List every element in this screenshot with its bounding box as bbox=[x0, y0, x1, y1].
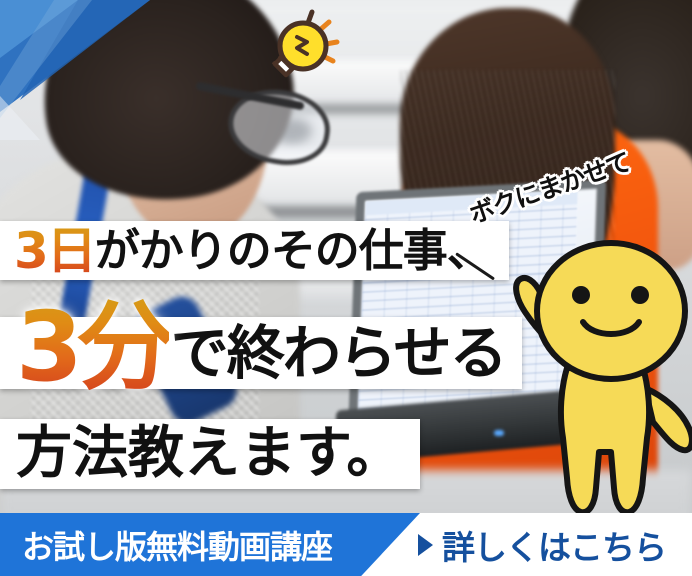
yellow-smiley-mascot bbox=[495, 238, 692, 538]
promo-banner: 3日 がかりのその仕事、 3分 で終わらせる 方法教えます。 ボクにまかせて bbox=[0, 0, 692, 576]
headline-number-3min: 3分 bbox=[16, 299, 169, 395]
headline-band-3: 方法教えます。 bbox=[0, 419, 420, 489]
headline-number-3days: 3日 bbox=[14, 226, 95, 276]
headline-text-line3: 方法教えます。 bbox=[16, 426, 402, 482]
mascot-body bbox=[561, 368, 649, 512]
headline-band-1: 3日 がかりのその仕事、 bbox=[0, 221, 509, 280]
mascot-head bbox=[537, 243, 685, 379]
headline-text-line2: で終わらせる bbox=[171, 324, 506, 382]
headline-band-2: 3分 で終わらせる bbox=[0, 317, 522, 389]
mascot-right-eye bbox=[631, 286, 649, 304]
headline-text-line1: がかりのその仕事、 bbox=[95, 228, 491, 273]
free-trial-course-label: お試し版無料動画講座 bbox=[22, 522, 332, 568]
details-cta-label: 詳しくはこちら bbox=[442, 521, 666, 569]
details-cta-link[interactable]: 詳しくはこちら bbox=[418, 521, 666, 569]
play-triangle-icon bbox=[418, 534, 433, 556]
headline-number-3min-wrap: 3分 bbox=[16, 311, 171, 395]
bottom-cta-bar[interactable]: お試し版無料動画講座 詳しくはこちら bbox=[0, 513, 692, 576]
mascot-left-eye bbox=[572, 286, 590, 304]
